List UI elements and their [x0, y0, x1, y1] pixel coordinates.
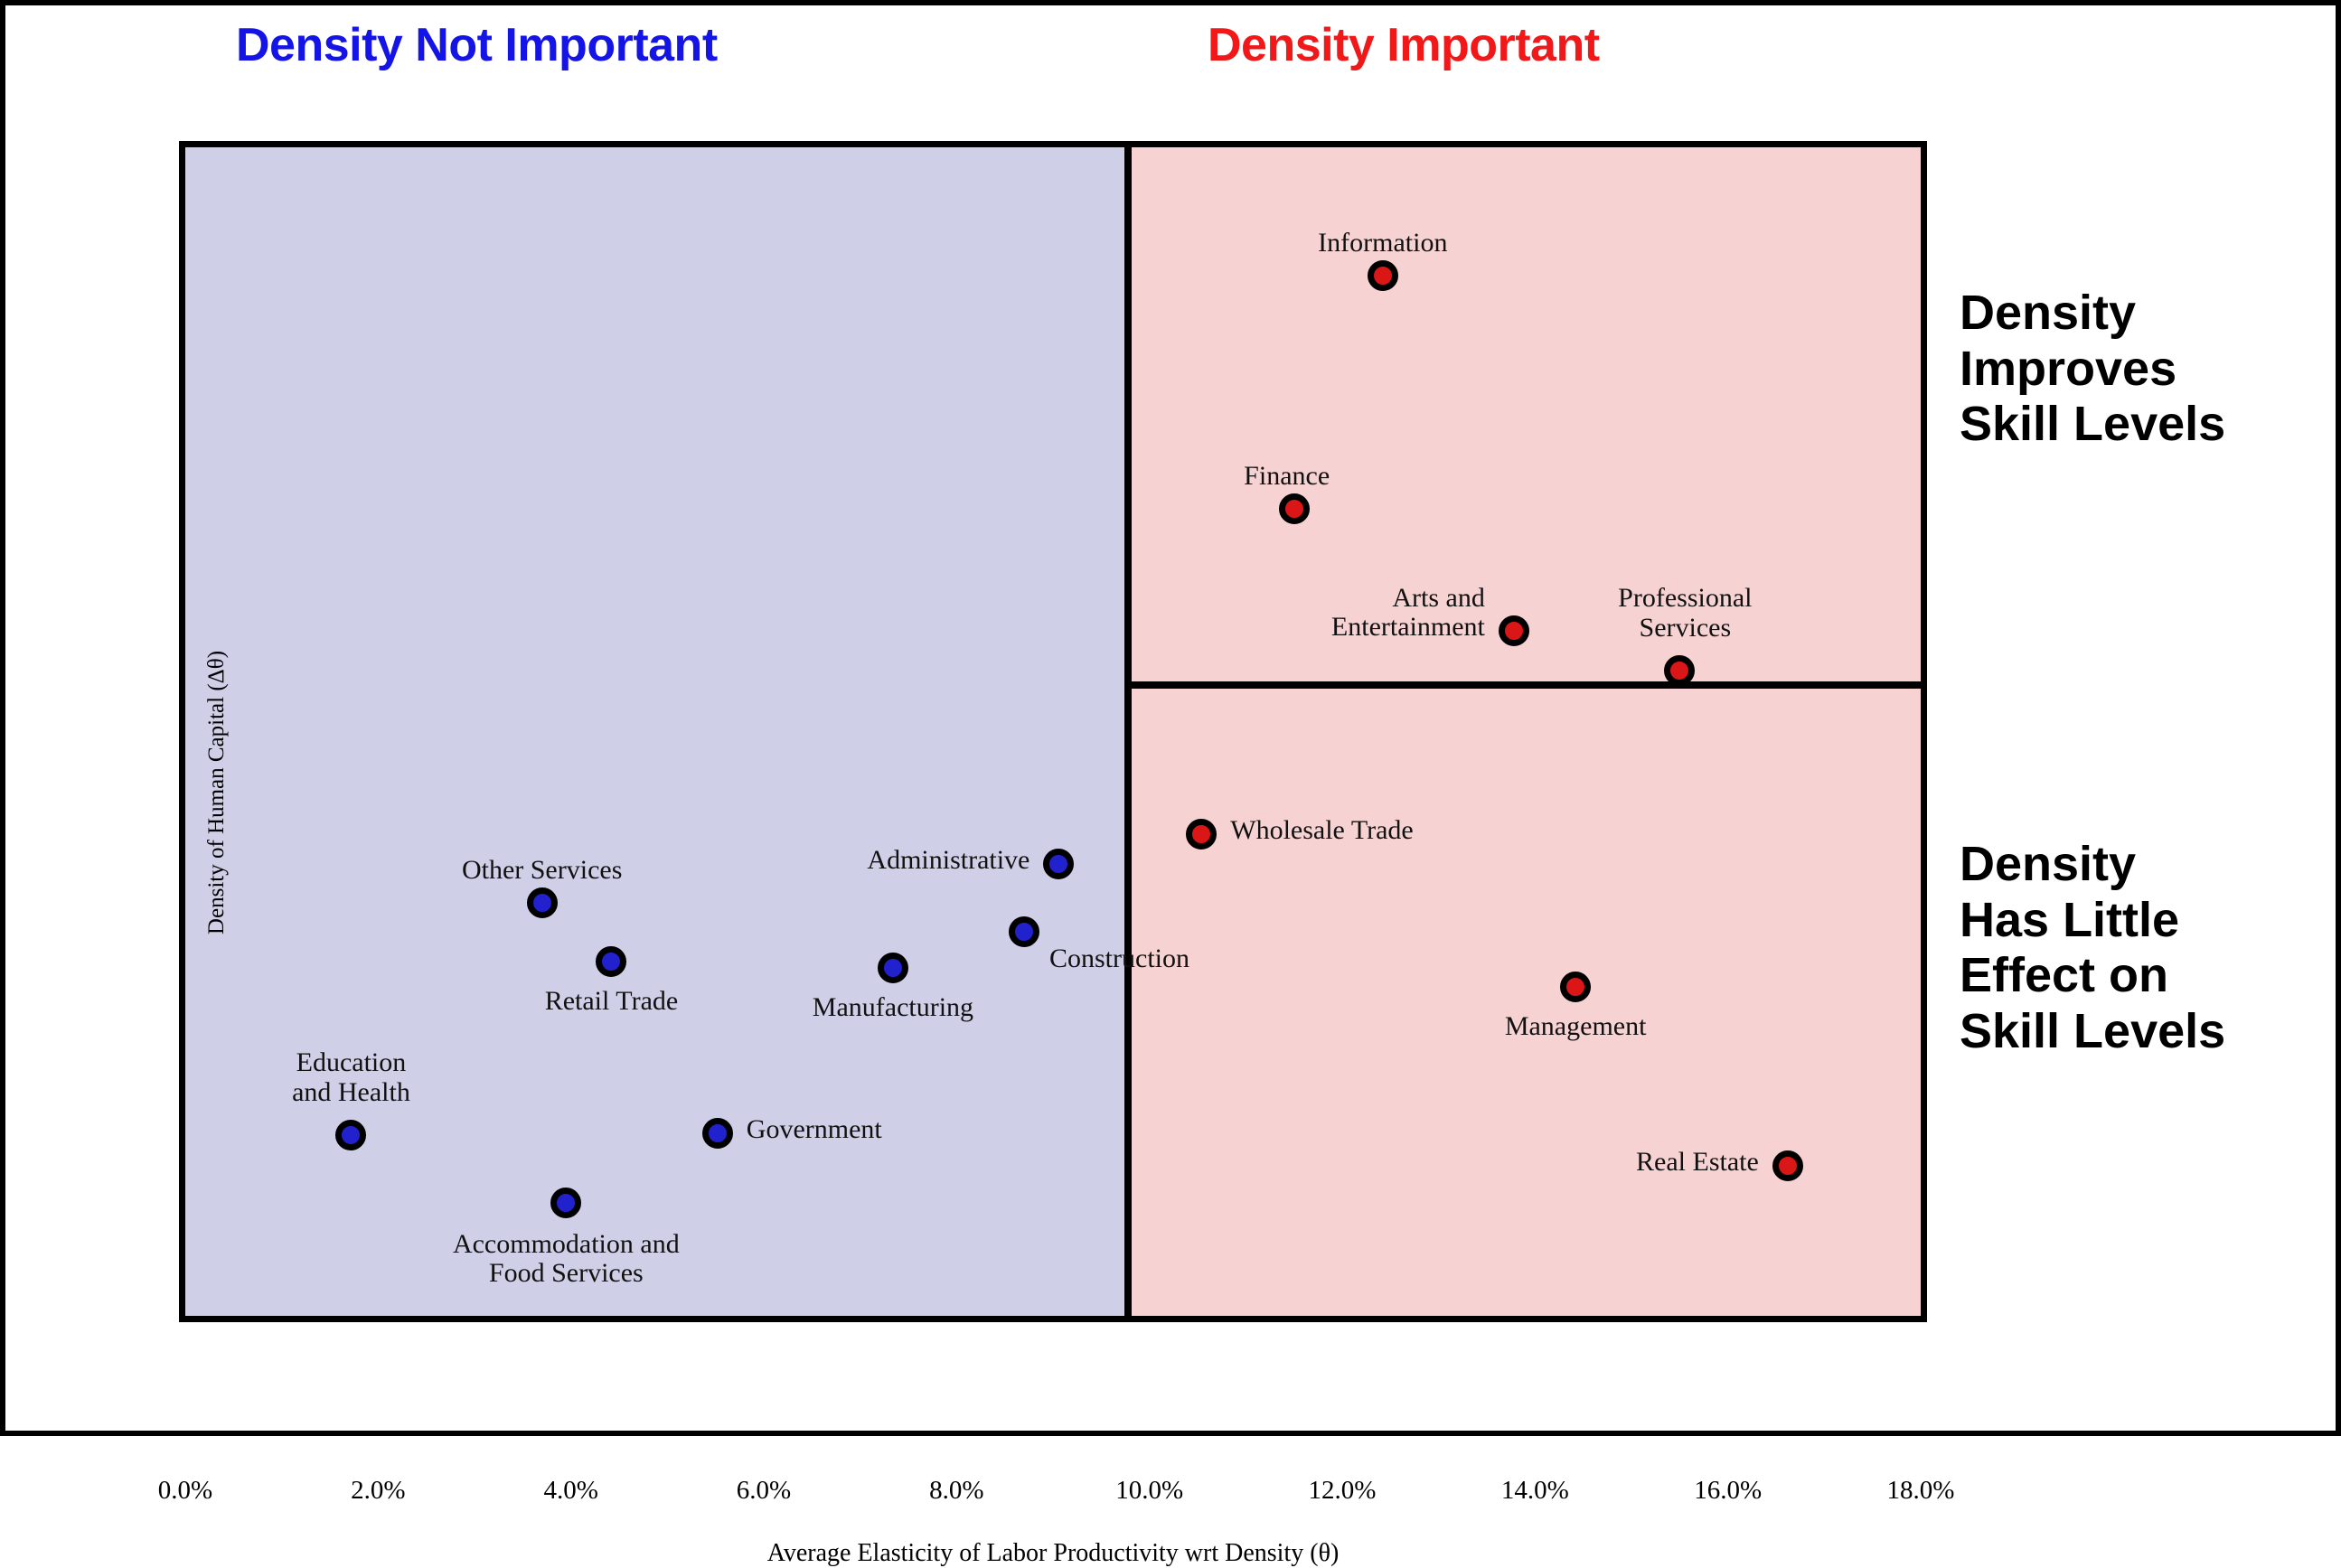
data-point-marker[interactable]: [1009, 916, 1039, 947]
data-point-marker[interactable]: [1368, 260, 1398, 291]
x-axis-tick-label: 4.0%: [543, 1476, 597, 1506]
x-axis-tick-label: 16.0%: [1694, 1476, 1762, 1506]
data-point-label: Administrative: [867, 846, 1029, 875]
quadrant-divider-vertical: [1124, 147, 1132, 1316]
data-point-marker[interactable]: [550, 1188, 581, 1218]
data-point-marker[interactable]: [1560, 972, 1591, 1002]
chart-canvas: Density Not Important Density Important …: [5, 5, 2336, 1431]
quadrant-title-right: Density Important: [1208, 18, 1600, 72]
annotation-density-improves-skill-levels: Density Improves Skill Levels: [1960, 286, 2339, 453]
data-point-marker[interactable]: [527, 887, 558, 918]
quadrant-top-left: [185, 147, 1128, 685]
data-point-label: Government: [747, 1115, 882, 1144]
data-point-label: Information: [1318, 229, 1447, 258]
data-point-label: Education and Health: [292, 1048, 410, 1107]
x-axis-tick-label: 14.0%: [1501, 1476, 1569, 1506]
data-point-label: Management: [1505, 1012, 1647, 1041]
data-point-marker[interactable]: [1772, 1150, 1803, 1181]
data-point-marker[interactable]: [702, 1118, 733, 1149]
data-point-label: Real Estate: [1636, 1148, 1759, 1177]
data-point-marker[interactable]: [1279, 493, 1310, 524]
x-axis-tick-label: 8.0%: [929, 1476, 983, 1506]
data-point-marker[interactable]: [1664, 655, 1695, 686]
data-point-label: Accommodation and Food Services: [453, 1230, 680, 1289]
x-axis-label: Average Elasticity of Labor Productivity…: [185, 1539, 1921, 1568]
data-point-marker[interactable]: [1043, 849, 1074, 879]
data-point-marker[interactable]: [335, 1120, 366, 1150]
data-point-label: Wholesale Trade: [1230, 816, 1413, 845]
quadrant-divider-horizontal: [1124, 681, 1921, 689]
quadrant-top-right: [1128, 147, 1921, 685]
data-point-label: Other Services: [462, 856, 622, 885]
annotation-density-little-effect: Density Has Little Effect on Skill Level…: [1960, 837, 2339, 1059]
x-axis-tick-label: 10.0%: [1115, 1476, 1183, 1506]
x-axis-tick-label: 0.0%: [158, 1476, 212, 1506]
x-axis-tick-label: 12.0%: [1309, 1476, 1377, 1506]
y-axis-label: Density of Human Capital (Δθ): [204, 540, 230, 1046]
data-point-marker[interactable]: [1186, 819, 1217, 850]
quadrant-title-left: Density Not Important: [236, 18, 718, 72]
data-point-label: Professional Services: [1618, 584, 1752, 643]
data-point-label: Construction: [1049, 944, 1189, 973]
data-point-label: Manufacturing: [813, 993, 973, 1022]
x-axis-tick-label: 18.0%: [1887, 1476, 1955, 1506]
x-axis-tick-label: 2.0%: [351, 1476, 405, 1506]
quadrant-bottom-right: [1128, 685, 1921, 1316]
x-axis-tick-label: 6.0%: [737, 1476, 791, 1506]
data-point-marker[interactable]: [878, 953, 908, 983]
plot-area: 0.0%2.0%4.0%6.0%8.0%10.0%12.0%14.0%16.0%…: [179, 141, 1927, 1322]
data-point-label: Arts and Entertainment: [1331, 584, 1485, 643]
data-point-marker[interactable]: [1499, 615, 1529, 646]
data-point-label: Finance: [1244, 462, 1330, 491]
data-point-label: Retail Trade: [545, 987, 679, 1016]
data-point-marker[interactable]: [596, 946, 626, 977]
